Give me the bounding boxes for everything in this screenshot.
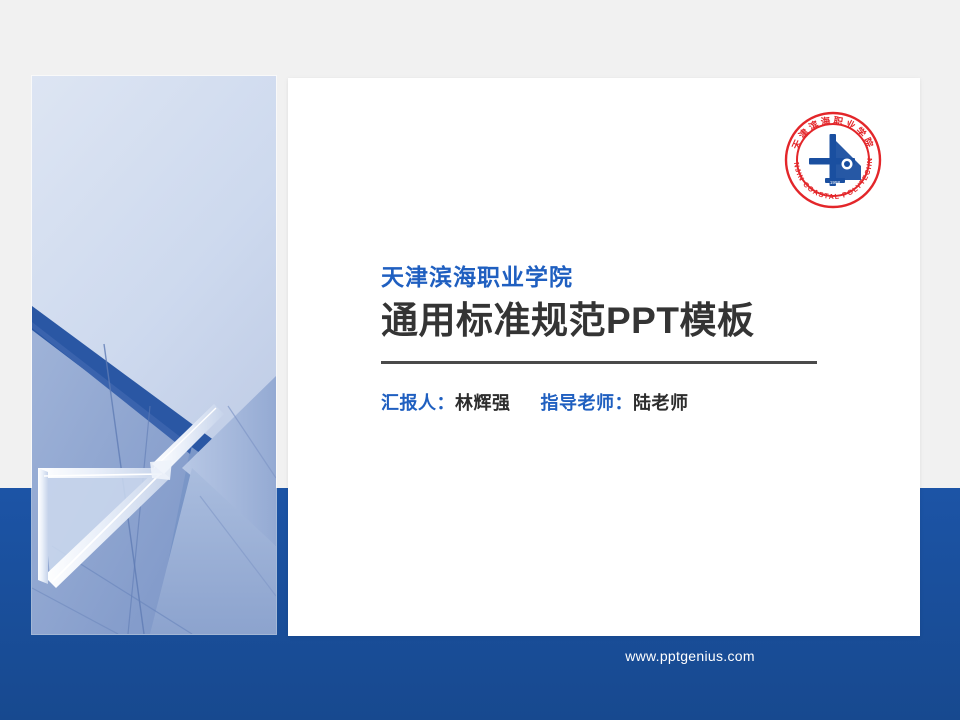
- presenter-name: 林辉强: [455, 393, 511, 413]
- footer-url-text: www.pptgenius.com: [625, 648, 755, 664]
- organization-name: 天津滨海职业学院: [381, 263, 831, 292]
- footer-url: www.pptgenius.com: [0, 648, 960, 664]
- content-card: 天津滨海职业学院 TIANJIN COASTAL POLYTECHNIC 195…: [288, 78, 920, 636]
- byline: 汇报人：林辉强指导老师：陆老师: [381, 389, 831, 415]
- left-photo-panel: [32, 76, 276, 634]
- school-logo: 天津滨海职业学院 TIANJIN COASTAL POLYTECHNIC 195…: [781, 108, 885, 212]
- presenter-label: 汇报人：: [381, 393, 455, 413]
- advisor-name: 陆老师: [633, 393, 689, 413]
- presentation-slide: 天津滨海职业学院 TIANJIN COASTAL POLYTECHNIC 195…: [0, 0, 960, 720]
- page-title: 通用标准规范PPT模板: [381, 298, 831, 343]
- svg-text:1958: 1958: [830, 180, 841, 185]
- architecture-abstract-photo: [32, 76, 276, 634]
- title-divider: [381, 361, 817, 364]
- advisor-label: 指导老师：: [541, 393, 634, 413]
- title-text-block: 天津滨海职业学院 通用标准规范PPT模板 汇报人：林辉强指导老师：陆老师: [381, 263, 831, 415]
- school-logo-icon: 天津滨海职业学院 TIANJIN COASTAL POLYTECHNIC 195…: [781, 108, 885, 212]
